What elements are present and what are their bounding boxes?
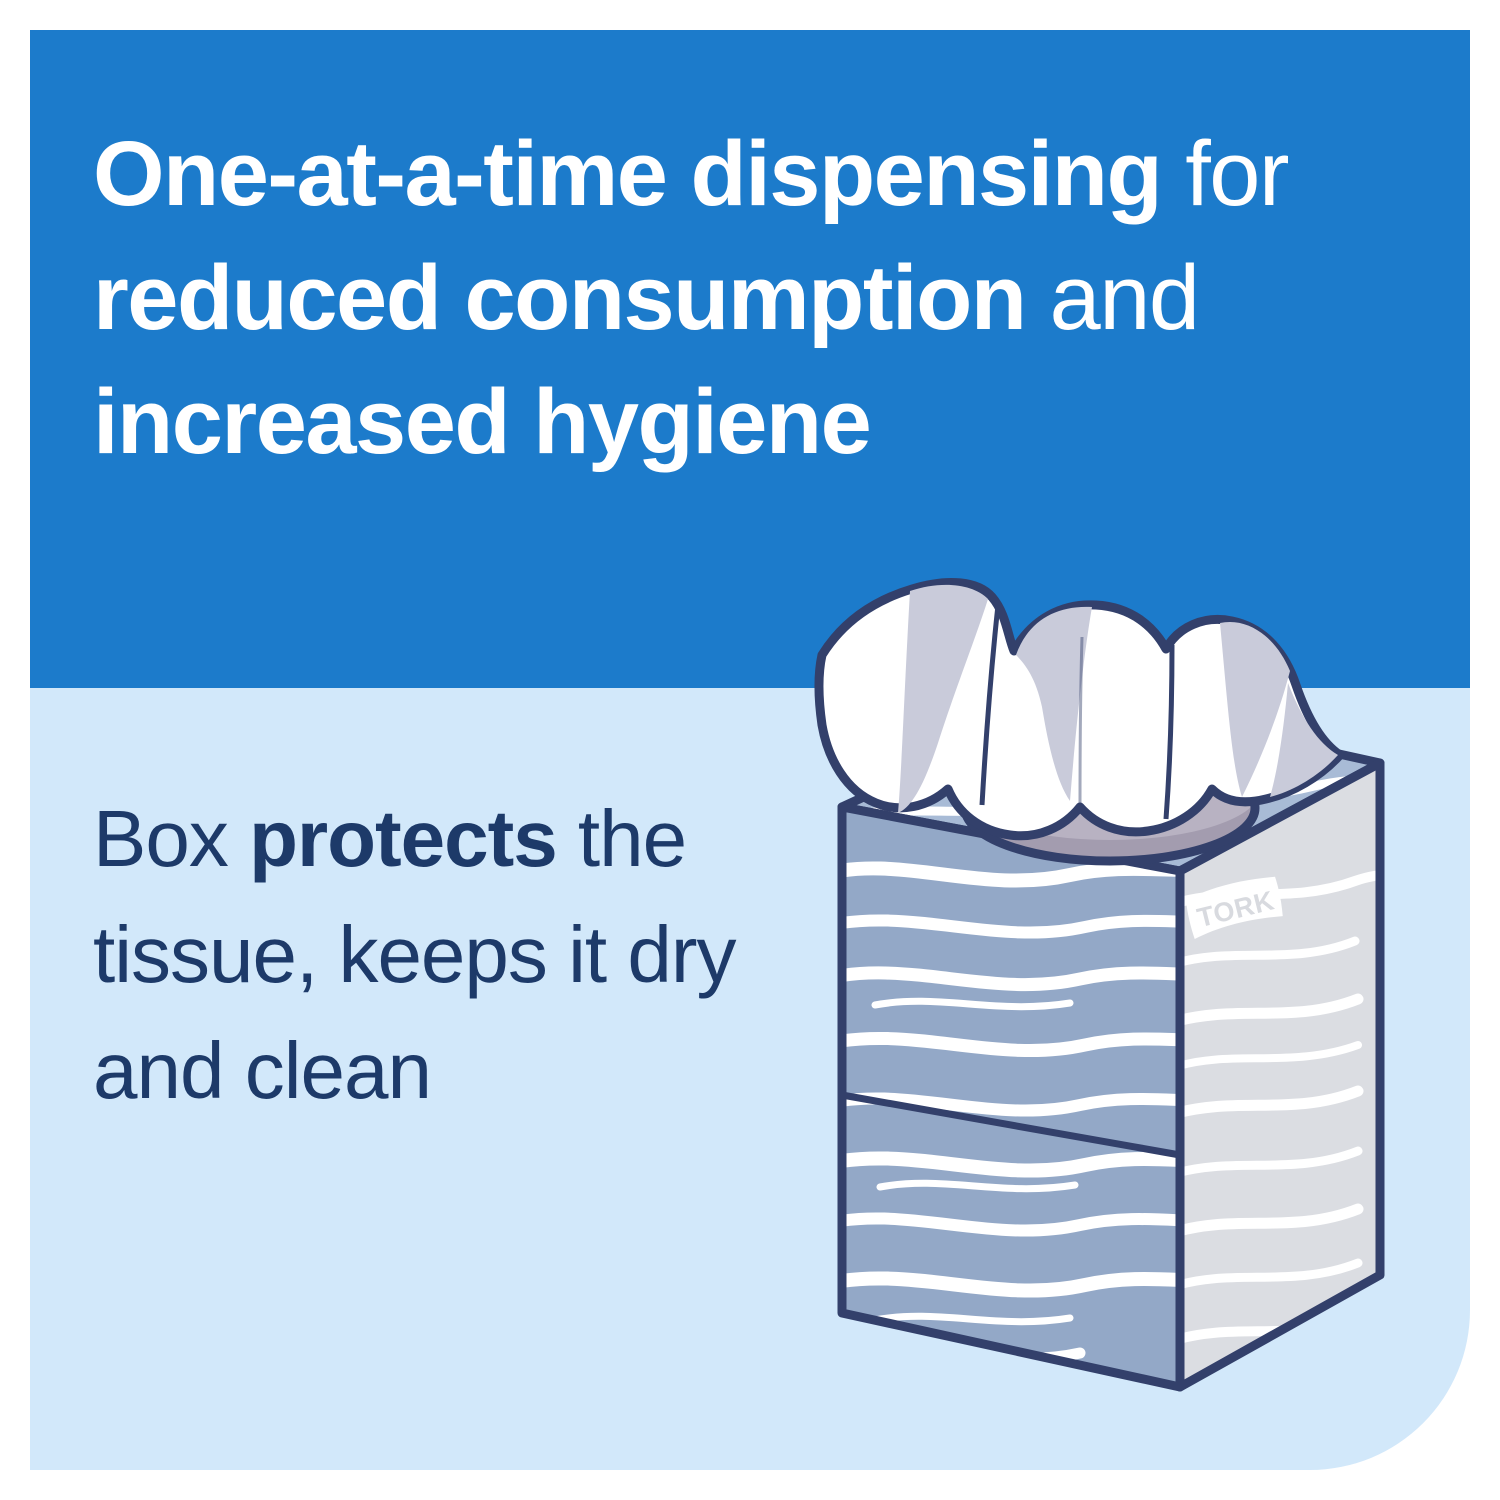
poster-root: One-at-a-time dispensing for reduced con…: [0, 0, 1500, 1500]
subcopy-bold-1: protects: [249, 794, 557, 883]
headline-bold-1: One-at-a-time dispensing: [93, 123, 1161, 225]
top-blue-panel: One-at-a-time dispensing for reduced con…: [30, 30, 1470, 688]
subcopy-regular-1: Box: [93, 794, 249, 883]
headline: One-at-a-time dispensing for reduced con…: [93, 112, 1433, 484]
subcopy: Box protects the tissue, keeps it dry an…: [93, 781, 793, 1129]
headline-bold-2: reduced consumption: [93, 247, 1025, 349]
headline-bold-3: increased hygiene: [93, 371, 870, 473]
headline-regular-2: and: [1025, 247, 1198, 349]
headline-regular-1: for: [1161, 123, 1288, 225]
bottom-light-blue-panel: Box protects the tissue, keeps it dry an…: [30, 688, 1470, 1470]
